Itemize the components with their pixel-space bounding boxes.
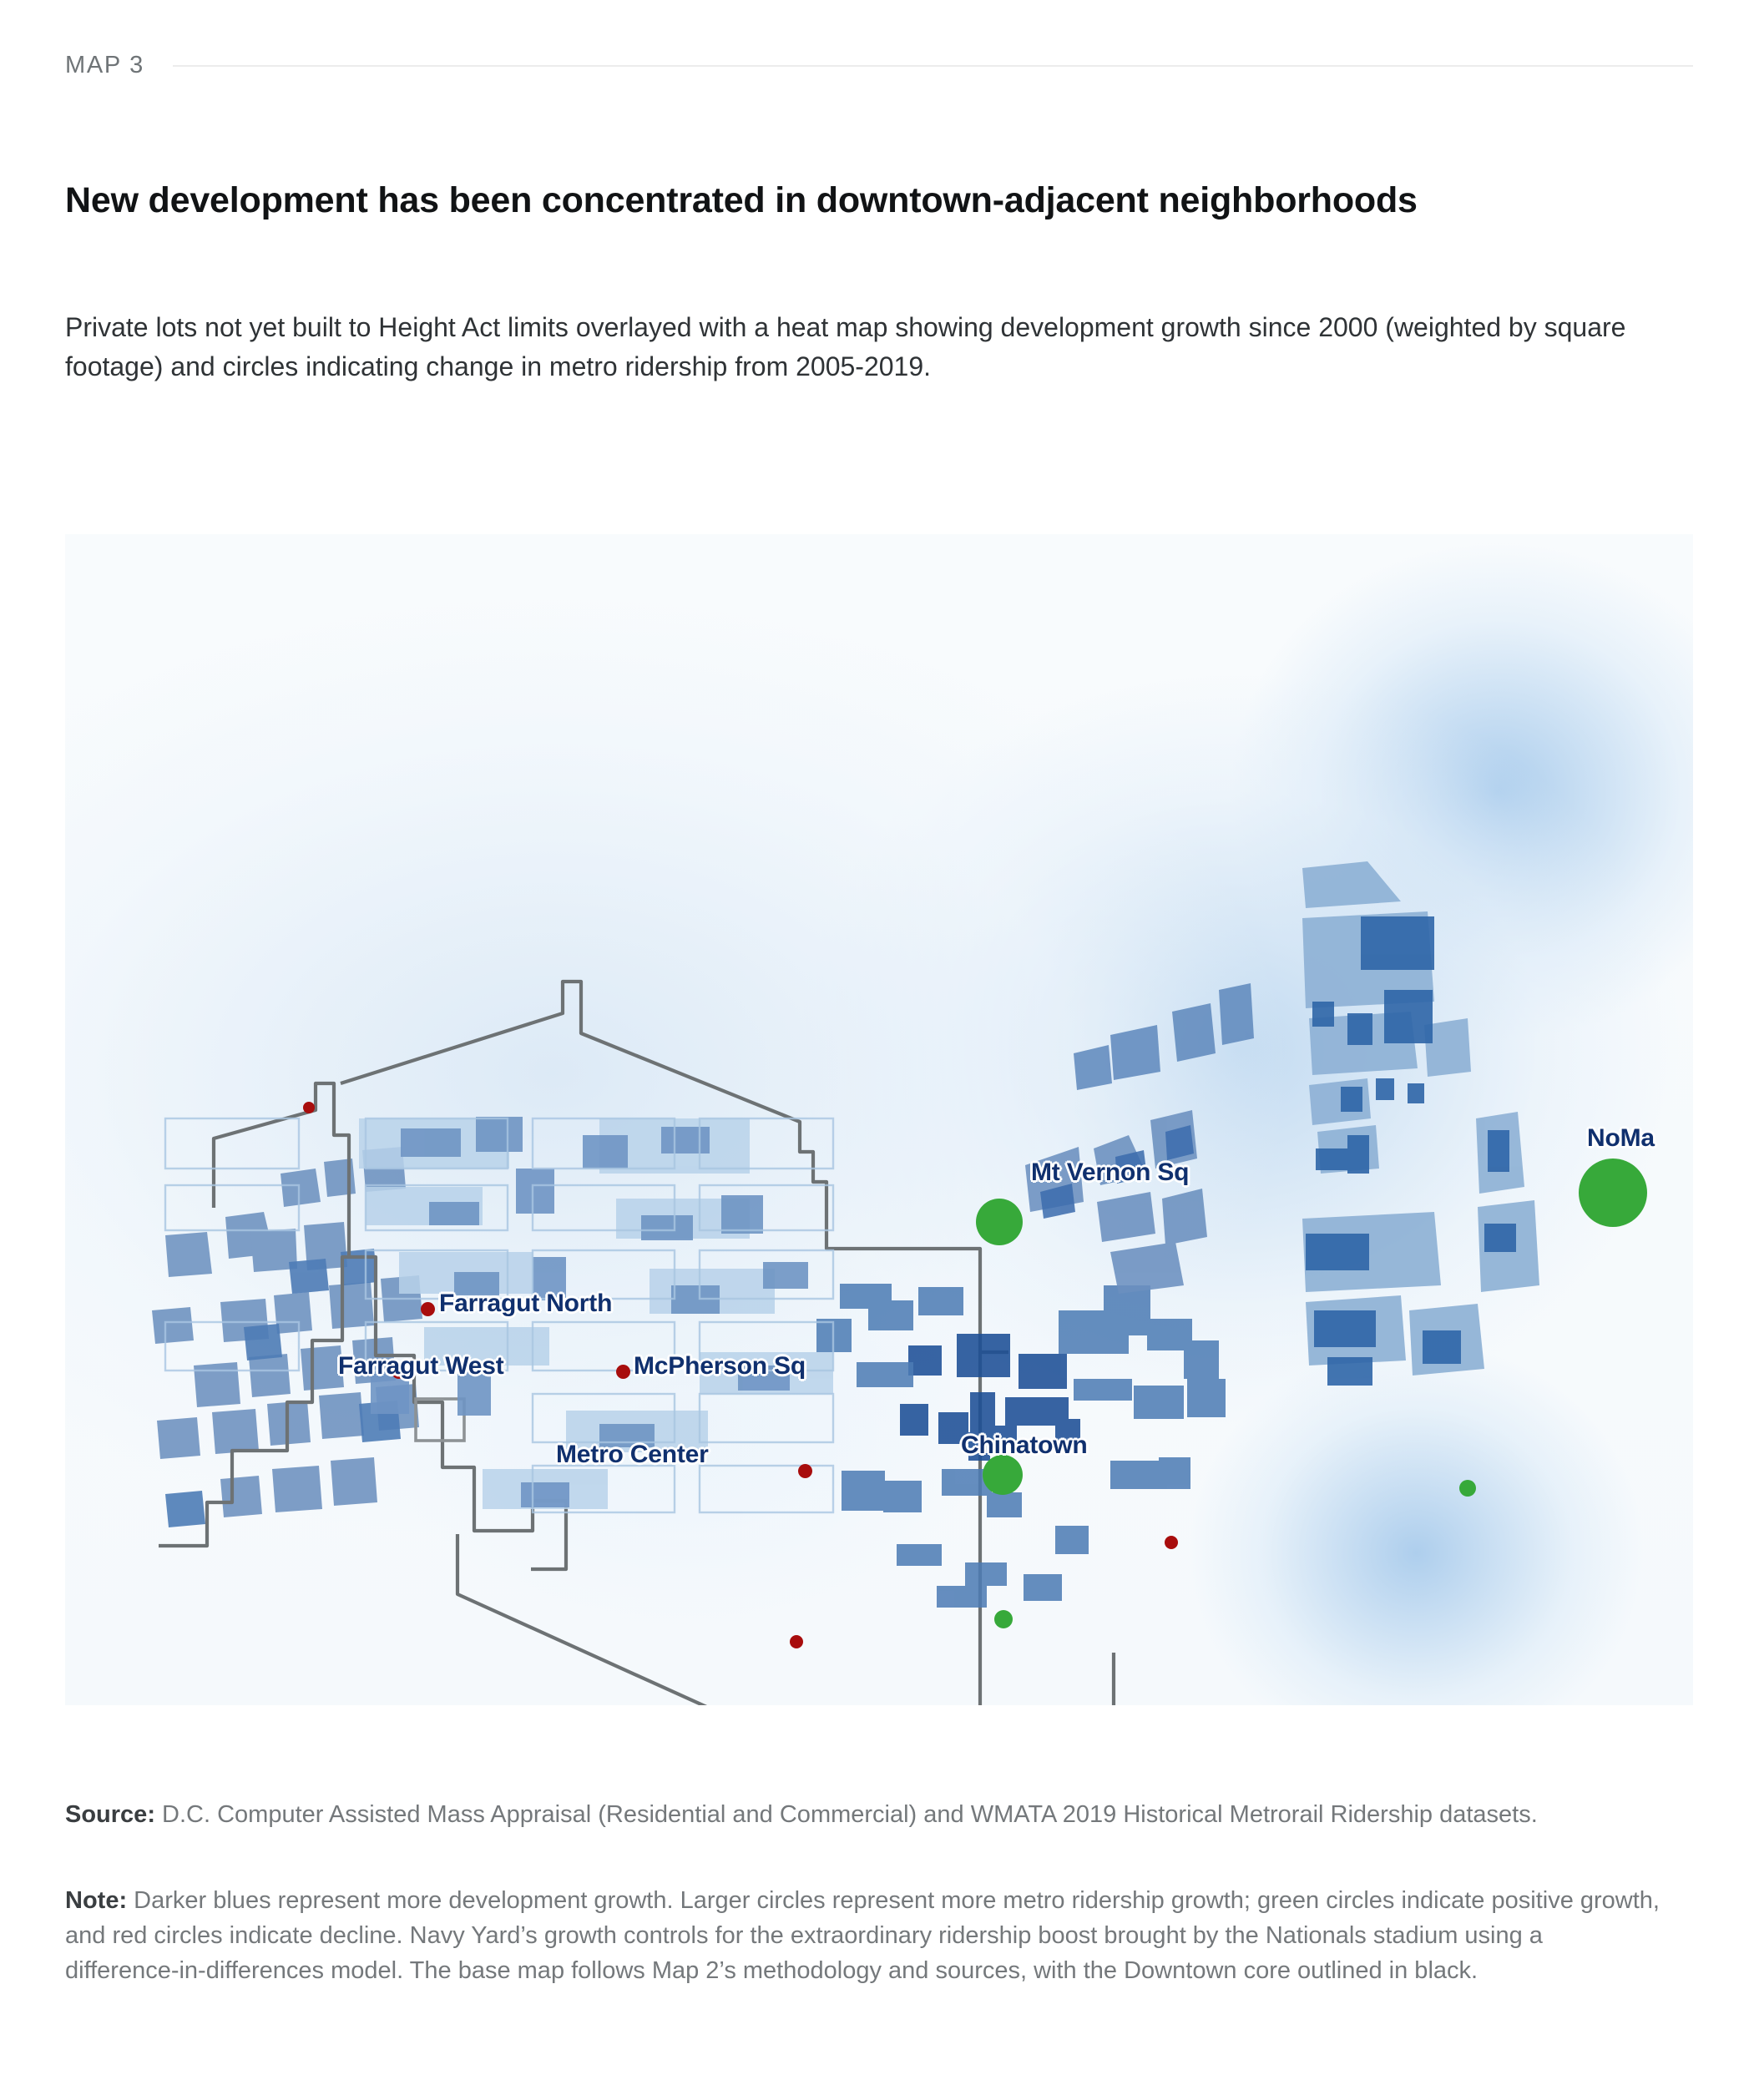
ridership-circle-farragut-west[interactable] xyxy=(392,1365,406,1379)
source-text: D.C. Computer Assisted Mass Appraisal (R… xyxy=(155,1801,1538,1828)
parcels-chinatown-mid xyxy=(816,1284,1226,1608)
figure-kicker: MAP 3 xyxy=(65,52,144,79)
ridership-circle-farragut-north[interactable] xyxy=(421,1302,435,1316)
ridership-circle-unlabeled-ne[interactable] xyxy=(1459,1480,1476,1497)
source-note: Source: D.C. Computer Assisted Mass Appr… xyxy=(65,1797,1660,1832)
inner-block-outline xyxy=(416,1399,464,1441)
ridership-circle-unlabeled-nw[interactable] xyxy=(303,1102,315,1113)
figure-subtitle: Private lots not yet built to Height Act… xyxy=(65,308,1685,386)
ridership-circle-chinatown[interactable] xyxy=(983,1455,1023,1495)
map-figure-page: MAP 3 New development has been concentra… xyxy=(0,0,1754,2100)
ridership-circle-mt-vernon-sq[interactable] xyxy=(976,1199,1023,1245)
ridership-circle-unlabeled-e[interactable] xyxy=(1165,1536,1178,1549)
ridership-circle-mcpherson-sq[interactable] xyxy=(616,1365,630,1379)
parcels-shaw xyxy=(1074,983,1254,1090)
note-label: Note: xyxy=(65,1887,127,1914)
figure-kicker-row: MAP 3 xyxy=(65,52,1693,79)
source-label: Source: xyxy=(65,1801,155,1828)
page-title: New development has been concentrated in… xyxy=(65,179,1451,222)
downtown-core-outline-south xyxy=(980,1653,1114,1705)
ridership-circle-unlabeled-sw[interactable] xyxy=(790,1635,803,1648)
note-text: Darker blues represent more development … xyxy=(65,1887,1660,1984)
ridership-circle-noma[interactable] xyxy=(1579,1159,1647,1227)
ridership-circle-metro-center[interactable] xyxy=(798,1464,812,1478)
kicker-divider xyxy=(173,65,1693,67)
map-vector-layer xyxy=(65,534,1693,1705)
map-canvas[interactable]: Mt Vernon Sq NoMa Farragut North Farragu… xyxy=(65,534,1693,1705)
ridership-circle-unlabeled-se1[interactable] xyxy=(994,1610,1013,1628)
methodology-note: Note: Darker blues represent more develo… xyxy=(65,1883,1660,1988)
parcels-chinatown-dark xyxy=(900,1334,1080,1461)
